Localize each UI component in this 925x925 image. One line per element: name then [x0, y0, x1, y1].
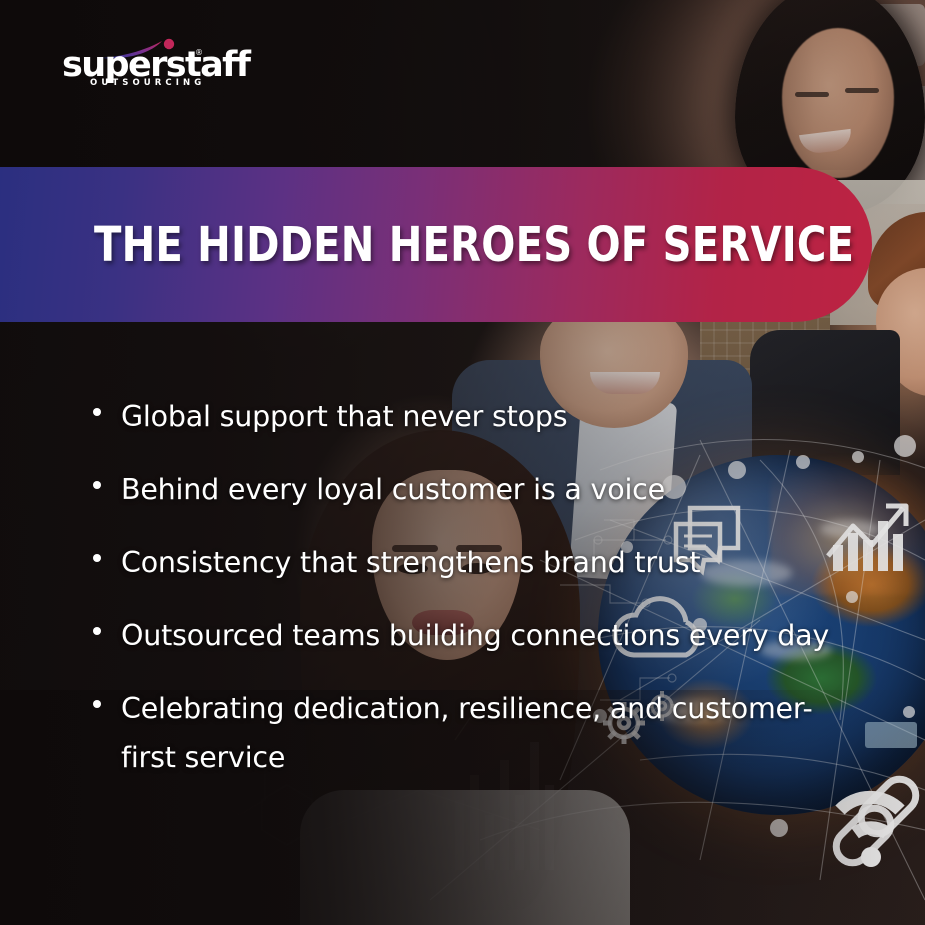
- list-item: Global support that never stops: [88, 392, 888, 441]
- superstaff-logo[interactable]: superstaff ® OUTSOURCING: [62, 38, 262, 90]
- page-title: THE HIDDEN HEROES OF SERVICE: [94, 217, 854, 273]
- bullet-list: Global support that never stops Behind e…: [88, 392, 888, 806]
- list-item: Outsourced teams building connections ev…: [88, 611, 888, 660]
- list-item-label: Global support that never stops: [121, 392, 567, 441]
- list-item-label: Celebrating dedication, resilience, and …: [121, 684, 861, 782]
- bullet-point-icon: [93, 627, 101, 635]
- logo-registered-icon: ®: [195, 48, 203, 57]
- bullet-point-icon: [93, 481, 101, 489]
- bullet-point-icon: [93, 700, 101, 708]
- bullet-point-icon: [93, 554, 101, 562]
- social-media-slide: superstaff ® OUTSOURCING THE HIDDEN HERO…: [0, 0, 925, 925]
- list-item-label: Outsourced teams building connections ev…: [121, 611, 829, 660]
- list-item-label: Consistency that strengthens brand trust: [121, 538, 700, 587]
- logo-tagline: OUTSOURCING: [90, 78, 205, 88]
- title-banner: THE HIDDEN HEROES OF SERVICE: [0, 167, 872, 322]
- list-item: Consistency that strengthens brand trust: [88, 538, 888, 587]
- list-item: Celebrating dedication, resilience, and …: [88, 684, 888, 782]
- list-item-label: Behind every loyal customer is a voice: [121, 465, 665, 514]
- bullet-point-icon: [93, 408, 101, 416]
- list-item: Behind every loyal customer is a voice: [88, 465, 888, 514]
